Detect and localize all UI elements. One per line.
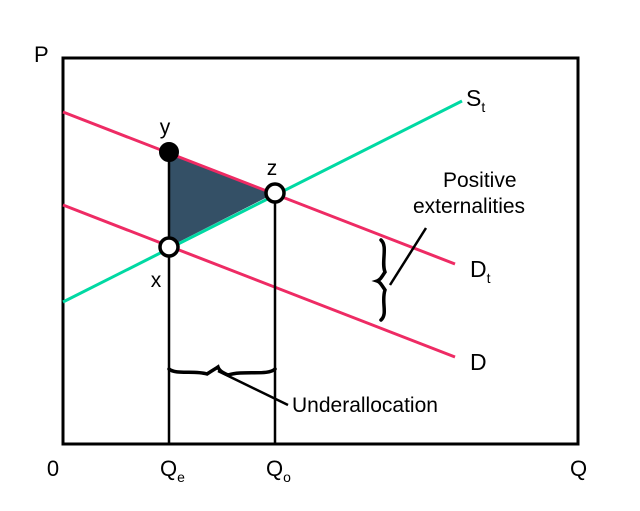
tick-label-qe: Qe — [160, 456, 185, 485]
positive-externalities-brace — [377, 240, 385, 320]
point-x-label: x — [151, 269, 162, 292]
diagram-canvas: y x z St Dt D P Q 0 Qe Qo Positive exter… — [0, 0, 640, 511]
positive-externalities-line1: Positive — [443, 169, 517, 192]
point-x-marker — [160, 238, 178, 256]
supply-curve-label: St — [466, 85, 485, 115]
positive-externalities-line2: externalities — [413, 195, 525, 218]
positive-externalities-leader-line — [390, 228, 426, 285]
tick-label-qo: Qo — [266, 456, 291, 485]
x-axis-label: Q — [570, 456, 587, 481]
demand-market-curve-label: D — [470, 349, 487, 375]
underallocation-label: Underallocation — [292, 394, 438, 417]
supply-curve-st — [63, 101, 462, 302]
welfare-gain-triangle — [169, 152, 275, 247]
point-z-marker — [266, 184, 284, 202]
y-axis-label: P — [34, 42, 49, 67]
demand-curve-d — [63, 205, 455, 357]
demand-true-curve-label: Dt — [470, 256, 491, 286]
plot-frame — [63, 58, 578, 444]
point-y-marker — [160, 143, 178, 161]
economics-diagram: y x z St Dt D P Q 0 Qe Qo Positive exter… — [0, 0, 640, 511]
origin-label: 0 — [47, 456, 59, 481]
point-z-label: z — [267, 157, 278, 180]
point-y-label: y — [160, 116, 171, 139]
underallocation-leader-line — [218, 371, 288, 405]
